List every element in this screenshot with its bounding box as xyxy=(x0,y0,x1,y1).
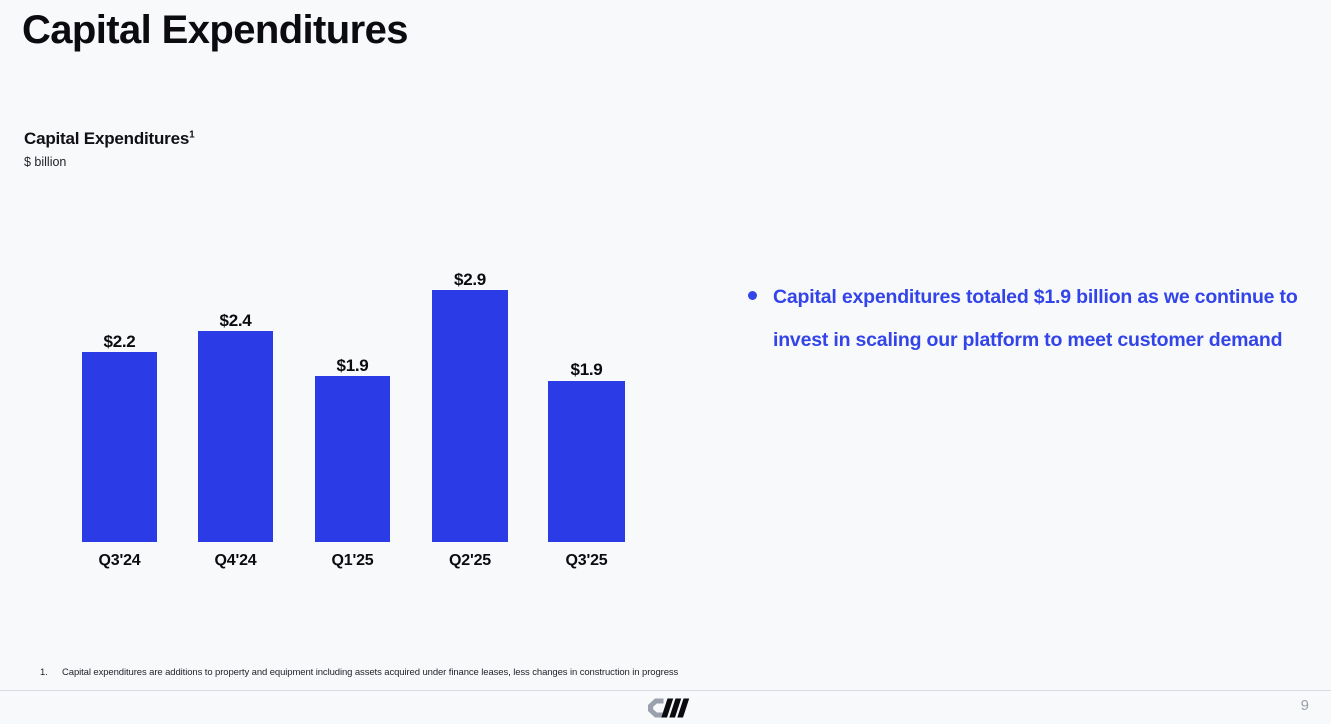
bar-rect xyxy=(82,352,157,542)
page-number: 9 xyxy=(1301,696,1309,716)
chart-title: Capital Expenditures1 xyxy=(24,128,194,150)
footnote-text: Capital expenditures are additions to pr… xyxy=(62,666,678,680)
bar-category-label: Q2'25 xyxy=(449,552,491,570)
footnote-marker: 1. xyxy=(40,666,62,680)
chart-title-footnote-marker: 1 xyxy=(189,129,194,140)
bar-value-label: $2.4 xyxy=(220,311,252,331)
bar-category-label: Q3'25 xyxy=(566,552,608,570)
chart-title-text: Capital Expenditures xyxy=(24,129,189,148)
chart-units-label: $ billion xyxy=(24,153,194,171)
coreweave-logo xyxy=(646,697,700,719)
bar-value-label: $2.2 xyxy=(104,332,136,352)
bullet-point-icon xyxy=(748,291,757,300)
callout-bullet-item: Capital expenditures totaled $1.9 billio… xyxy=(748,276,1314,362)
callout-panel: Capital expenditures totaled $1.9 billio… xyxy=(748,276,1314,362)
bar-value-label: $1.9 xyxy=(337,356,369,376)
bar-rect xyxy=(548,381,625,542)
page-title: Capital Expenditures xyxy=(22,4,408,56)
bar-rect xyxy=(198,331,273,542)
footer-divider xyxy=(0,690,1331,691)
bar-category-label: Q4'24 xyxy=(215,552,257,570)
bar-category-label: Q3'24 xyxy=(99,552,141,570)
capital-expenditures-bar-chart: $2.2 Q3'24 $2.4 Q4'24 $1.9 Q1'25 $2.9 Q2… xyxy=(0,250,700,580)
bar-value-label: $2.9 xyxy=(454,270,486,290)
bar-rect xyxy=(315,376,390,542)
bar-group: $1.9 Q3'25 xyxy=(548,250,625,580)
bar-group: $1.9 Q1'25 xyxy=(315,250,390,580)
bar-rect xyxy=(432,290,508,542)
bar-group: $2.9 Q2'25 xyxy=(432,250,508,580)
bar-value-label: $1.9 xyxy=(571,360,603,380)
callout-bullet-text: Capital expenditures totaled $1.9 billio… xyxy=(773,276,1314,362)
bar-group: $2.2 Q3'24 xyxy=(82,250,157,580)
bar-category-label: Q1'25 xyxy=(332,552,374,570)
chart-header: Capital Expenditures1 $ billion xyxy=(24,128,194,171)
footnote: 1. Capital expenditures are additions to… xyxy=(40,666,678,680)
bar-group: $2.4 Q4'24 xyxy=(198,250,273,580)
